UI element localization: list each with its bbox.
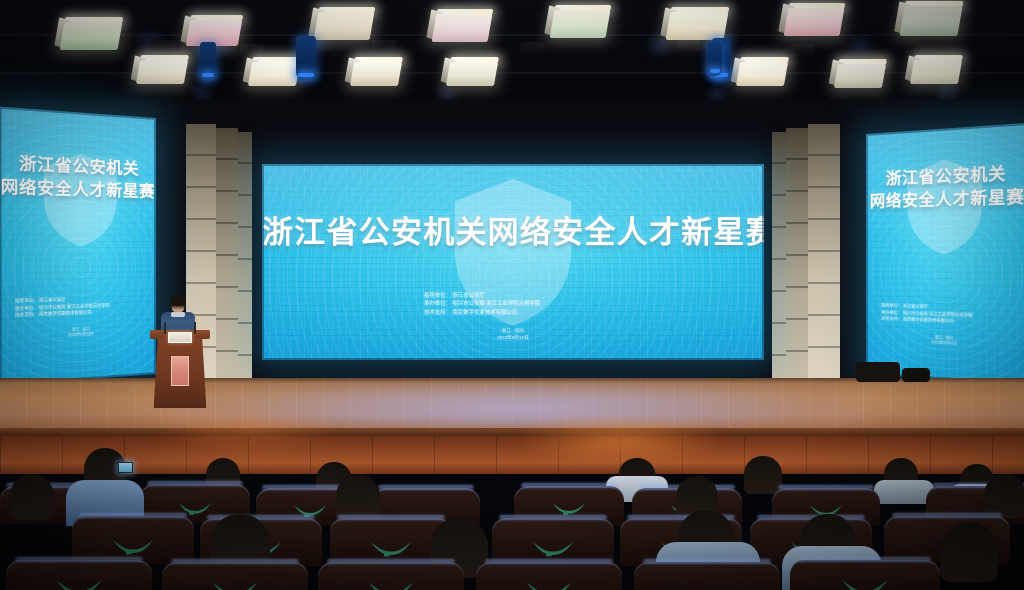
led-screen-right[interactable]: 浙江省公安机关 网络安全人才新星赛 指导单位： 浙江省公安厅 承办单位： 绍兴市…: [866, 123, 1024, 386]
stage-light-fixture: [784, 8, 845, 36]
led-main-frame: [262, 164, 764, 360]
audience-seat[interactable]: [318, 562, 464, 590]
seat-back-logo: [55, 576, 103, 590]
seat-back-logo: [525, 578, 573, 590]
led-left-frame: [0, 106, 156, 385]
stage-light-fixture: [60, 22, 123, 50]
auditorium-photo: 浙江省公安机关 网络安全人才新星赛 指导单位： 浙江省公安厅 承办单位： 绍兴市…: [0, 0, 1024, 590]
audience-member: [744, 456, 782, 494]
audience-seat[interactable]: [6, 560, 152, 590]
podium-microphone: [194, 322, 196, 334]
audience-seat[interactable]: [162, 562, 308, 590]
wall-column-right: [808, 124, 840, 382]
led-right-frame: [866, 123, 1024, 386]
stage-light-fixture: [314, 12, 375, 40]
moving-head-light: [200, 42, 216, 80]
wall-column-left-edge: [238, 132, 252, 382]
podium-emblem-plaque: [171, 356, 189, 386]
stage-light-fixture: [432, 14, 493, 42]
upper-dark-curtain: [256, 100, 768, 162]
stage-light-fixture: [350, 62, 402, 86]
podium: [150, 330, 210, 408]
stage-light-fixture: [666, 12, 729, 40]
wall-column-left-inner: [216, 128, 238, 382]
led-screen-main[interactable]: 浙江省公安机关网络安全人才新星赛 指导单位： 浙江省公安厅 承办单位： 绍兴市公…: [262, 164, 764, 360]
audience-seat[interactable]: [476, 562, 622, 590]
stage-light-fixture: [834, 64, 886, 88]
stage-light-fixture: [910, 60, 962, 84]
stage-light-fixture: [550, 10, 611, 38]
stage-light-fixture: [248, 62, 300, 86]
wall-column-right-inner: [786, 128, 808, 382]
ceiling-truss: [0, 0, 1024, 112]
stage-light-fixture: [899, 6, 962, 36]
audience-seat[interactable]: [634, 562, 780, 590]
stage-light-fixture: [736, 62, 788, 86]
seat-back-logo: [211, 578, 259, 590]
wall-column-right-edge: [772, 132, 786, 382]
podium-nameplate: [168, 332, 192, 343]
audience-area: [0, 440, 1024, 590]
stage-equipment-case: [902, 368, 930, 382]
speaker-collar: [171, 312, 185, 317]
audience-member: [10, 474, 54, 520]
led-screen-left[interactable]: 浙江省公安机关 网络安全人才新星赛 指导单位： 浙江省公安厅 承办单位： 绍兴市…: [0, 106, 156, 385]
moving-head-light: [708, 42, 722, 76]
phone-screen[interactable]: [118, 462, 133, 473]
audience-member: [984, 474, 1024, 518]
stage-equipment-case: [856, 362, 900, 382]
audience-seat[interactable]: [790, 560, 940, 590]
audience-member: [336, 474, 380, 520]
audience-member-shirt: [874, 480, 934, 504]
podium-microphone: [164, 322, 166, 334]
seat-back-logo: [367, 578, 415, 590]
stage-light-fixture: [136, 60, 188, 84]
stage-light-fixture: [446, 62, 498, 86]
moving-head-light: [296, 36, 316, 80]
audience-member: [940, 522, 998, 582]
seat-back-logo: [841, 576, 889, 590]
speaker-hair: [171, 296, 186, 306]
